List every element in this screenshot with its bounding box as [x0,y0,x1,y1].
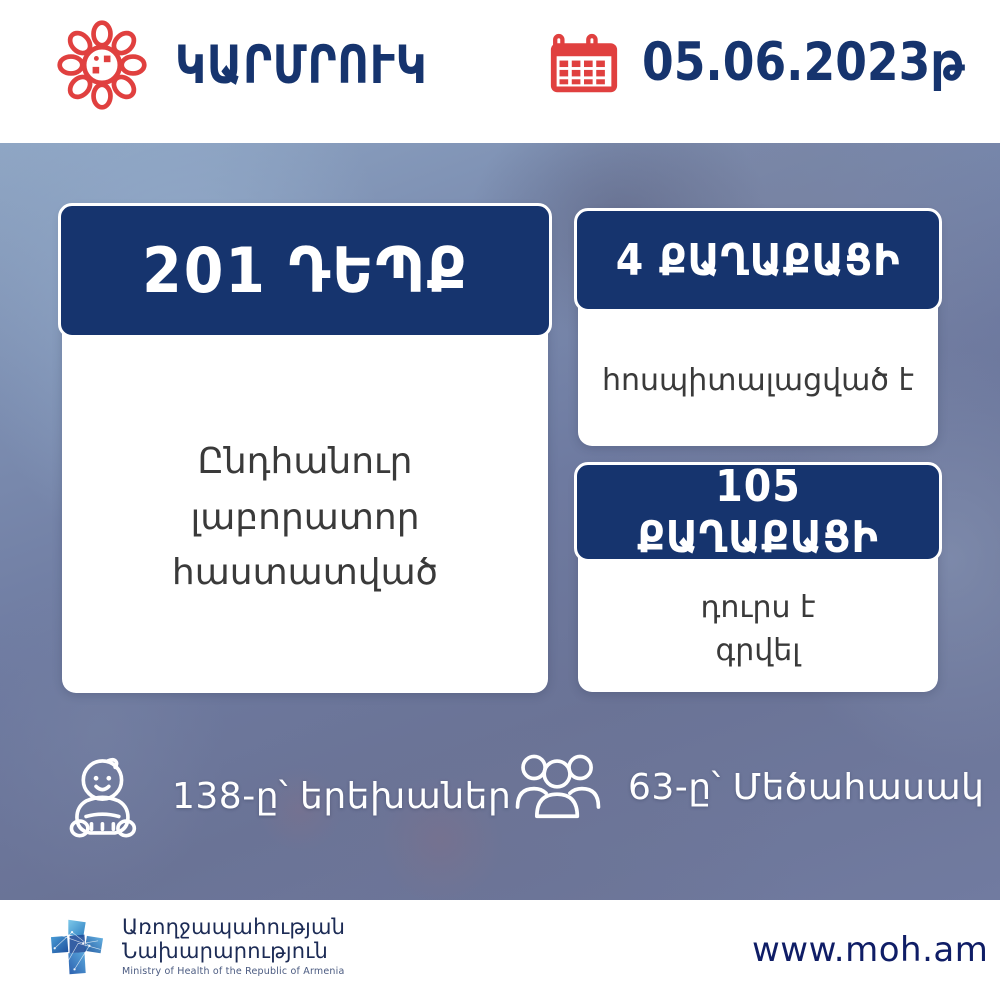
infographic-poster: ԿԱՐՄՐՈՒԿ [0,0,1000,1000]
stat-children: 138-ը՝ երեխաներ [66,750,511,842]
ministry-name-line-1: Առողջապահության [122,916,345,940]
disease-title: ԿԱՐՄՐՈՒԿ [175,39,427,92]
total-cases-description: Ընդհանուր լաբորատոր հաստատված [62,342,548,693]
report-date: 05.06.2023թ [642,36,965,89]
hospitalized-line-1: հոսպիտալացված է [602,359,914,403]
discharged-line-2: գրվել [701,629,816,673]
total-cases-headline: 201 ԴԵՊՔ [58,203,552,338]
website-url[interactable]: www.moh.am [752,930,988,970]
ministry-logo-text: Առողջապահության Նախարարություն Ministry … [122,916,345,978]
hospitalized-card: 4 ՔԱՂԱՔԱՑԻ հոսպիտալացված է [578,212,938,446]
footer-band: Առողջապահության Նախարարություն Ministry … [0,900,1000,1000]
hospitalized-description: հոսպիտալացված է [578,316,938,446]
ministry-name-english: Ministry of Health of the Republic of Ar… [122,967,345,978]
total-cases-headline-text: 201 ԴԵՊՔ [142,234,468,307]
stat-adults: 63-ը՝ Մեծահասակ [512,750,985,824]
discharged-description: դուրս է գրվել [578,566,938,692]
ministry-name-line-2: Նախարարություն [122,940,345,964]
header-date-group: 05.06.2023թ [548,26,1000,98]
discharged-line-1: դուրս է [701,586,816,630]
ministry-of-health-logo: Առողջապահության Նախարարություն Ministry … [46,916,345,978]
hospitalized-headline-text: 4 ՔԱՂԱՔԱՑԻ [616,235,901,286]
baby-icon [66,750,148,842]
stat-children-label: 138-ը՝ երեխաներ [172,776,511,817]
total-cases-line-3: հաստատված [172,545,438,601]
discharged-card: 105 ՔԱՂԱՔԱՑԻ դուրս է գրվել [578,466,938,692]
calendar-icon [548,26,620,98]
people-group-icon [512,750,604,824]
hospitalized-headline: 4 ՔԱՂԱՔԱՑԻ [574,208,942,312]
virus-icon [55,18,149,112]
ministry-logo-mark-icon [46,916,108,978]
total-cases-line-1: Ընդհանուր [172,434,438,490]
stat-adults-label: 63-ը՝ Մեծահասակ [628,767,985,808]
header-band: ԿԱՐՄՐՈՒԿ [0,0,1000,143]
discharged-headline-text: 105 ՔԱՂԱՔԱՑԻ [595,461,921,563]
header-disease-group: ԿԱՐՄՐՈՒԿ [55,18,483,112]
discharged-headline: 105 ՔԱՂԱՔԱՑԻ [574,462,942,562]
total-cases-card: 201 ԴԵՊՔ Ընդհանուր լաբորատոր հաստատված [62,207,548,693]
total-cases-line-2: լաբորատոր [172,490,438,546]
